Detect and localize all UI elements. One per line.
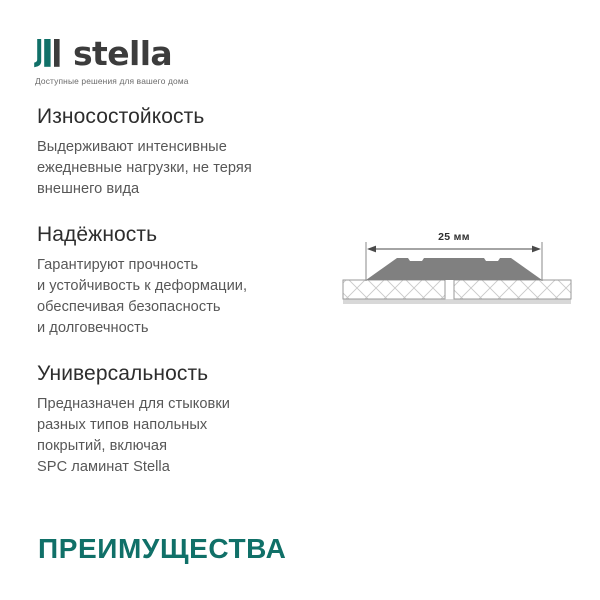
feature-item-durability: Износостойкость Выдерживают интенсивные … xyxy=(37,104,327,200)
feature-list: Износостойкость Выдерживают интенсивные … xyxy=(37,104,327,478)
baseline-strip xyxy=(343,299,571,304)
brand-logo: stella Доступные решения для вашего дома xyxy=(34,36,354,87)
brand-wordmark: stella xyxy=(73,37,172,70)
feature-item-versatility: Универсальность Предназначен для стыковк… xyxy=(37,361,327,478)
brand-tagline: Доступные решения для вашего дома xyxy=(35,76,354,87)
floor-panel-left xyxy=(343,280,445,299)
stella-bars-logo-icon xyxy=(34,39,62,68)
feature-item-reliability: Надёжность Гарантируют прочность и устой… xyxy=(37,222,327,339)
feature-title: Износостойкость xyxy=(37,104,327,130)
dimension-label: 25 мм xyxy=(438,231,470,243)
advantages-slide: stella Доступные решения для вашего дома… xyxy=(0,0,600,600)
feature-body: Предназначен для стыковки разных типов н… xyxy=(37,394,327,478)
threshold-profile-cross-section: 25 мм xyxy=(338,231,576,316)
logo-row: stella xyxy=(34,36,354,70)
feature-body: Гарантируют прочность и устойчивость к д… xyxy=(37,255,327,339)
profile-shape xyxy=(366,258,542,280)
feature-body: Выдерживают интенсивные ежедневные нагру… xyxy=(37,137,327,200)
feature-title: Универсальность xyxy=(37,361,327,387)
feature-title: Надёжность xyxy=(37,222,327,248)
floor-panel-right xyxy=(454,280,571,299)
double-headed-arrow-icon xyxy=(367,246,541,253)
section-headline: ПРЕИМУЩЕСТВА xyxy=(38,532,286,566)
cross-section-drawing: 25 мм xyxy=(338,231,576,316)
